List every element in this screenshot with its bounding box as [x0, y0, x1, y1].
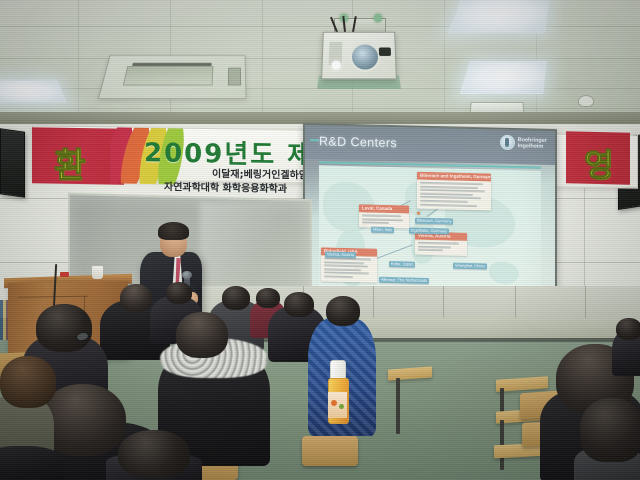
boehringer-ingelheim-logo: Boehringer Ingelheim	[500, 135, 547, 151]
light-panel-2	[460, 61, 547, 94]
slide-tag-ingelheim: Ingelheim, Germany	[409, 227, 449, 234]
light-panel-3	[0, 80, 67, 103]
presenter-hair	[158, 222, 189, 240]
slide-tag-kobe: Kobe, Japan	[389, 261, 415, 268]
slide-box-canada: Laval, Canada	[359, 204, 409, 228]
slide-surface: R&D Centers Boehringer Ingelheim	[305, 125, 555, 313]
ceiling-air-conditioner	[98, 55, 247, 99]
light-panel-1	[448, 0, 549, 33]
mount-bolt-right	[374, 14, 382, 22]
slide-tag-alkmaar: Alkmaar, The Netherlands	[379, 277, 429, 284]
slide-tag-vienna: Vienna, Austria	[325, 251, 356, 258]
slide-title: R&D Centers	[319, 134, 397, 150]
wall-upper-trim	[0, 112, 640, 124]
juice-bottle-graphic-2	[339, 404, 344, 409]
slide-tag-milan: Milan, Italy	[371, 227, 394, 234]
slide-box-austria: Vienna, Austria	[415, 232, 467, 256]
slide-title-tick-icon	[310, 139, 319, 141]
logo-text-line-2: Ingelheim	[518, 143, 547, 150]
red-marker	[60, 272, 69, 277]
slide-tag-shanghai: Shanghai, China	[453, 263, 487, 270]
smoke-detector-icon	[578, 95, 594, 107]
juice-bottle-graphic-1	[331, 400, 337, 406]
slide-tag-biberach: Biberach, Germany	[415, 218, 453, 225]
lecture-hall-photo: 환 2009년도 제4회 이달재;베링거인겔하임약품 상무, 자연과학대학 화학…	[0, 0, 640, 480]
ceiling-projector	[321, 32, 397, 80]
paper-cup	[92, 266, 103, 279]
banner-char-welcome-1: 환	[54, 138, 85, 187]
boehringer-logo-mark-icon	[500, 135, 515, 150]
microphone-head-icon	[182, 271, 192, 279]
projector-lens-icon	[350, 42, 380, 71]
banner-subtitle-2: 자연과학대학 화학응용화학과	[164, 178, 287, 195]
ceiling	[0, 0, 640, 118]
desk-leg-2	[396, 378, 400, 434]
banner-char-welcome-2: 영	[584, 140, 613, 186]
chair-front-right	[302, 436, 358, 466]
slide-box-germany: Biberach and Ingelheim, Germany	[417, 172, 491, 211]
